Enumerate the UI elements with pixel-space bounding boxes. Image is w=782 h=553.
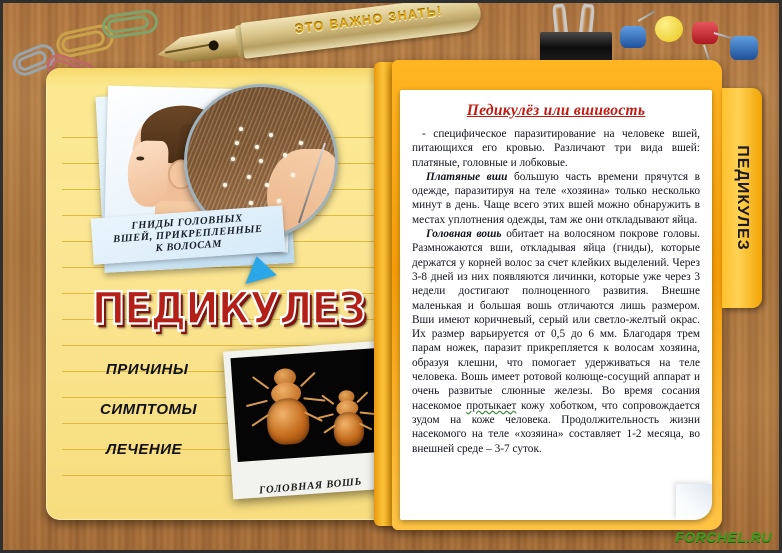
- photo-head-louse: ГОЛОВНАЯ ВОШЬ: [223, 341, 393, 500]
- article-body: - специфическое паразитирование на челов…: [412, 127, 700, 456]
- page-curl: [676, 484, 712, 520]
- side-tab-pedikulez[interactable]: ПЕДИКУЛЕЗ: [722, 88, 762, 308]
- photo-nits-on-hair: ГНИДЫ ГОЛОВНЫХ ВШЕЙ, ПРИКРЕПЛЕННЫЕ К ВОЛ…: [100, 88, 330, 273]
- right-page: Педикулёз или вшивость - специфическое п…: [392, 60, 722, 530]
- article-paragraph: Головная вошь обитает на волосяном покро…: [412, 227, 700, 456]
- menu-item-lechenie[interactable]: ЛЕЧЕНИЕ: [106, 441, 182, 458]
- side-tab-label: ПЕДИКУЛЕЗ: [733, 145, 751, 251]
- louse-photo-frame: [231, 348, 384, 462]
- page-title: ПЕДИКУЛЕЗ: [86, 283, 371, 335]
- menu-item-simptomy[interactable]: СИМПТОМЫ: [100, 401, 197, 418]
- article-paragraph: Платяные вши большую часть времени прячу…: [412, 170, 700, 227]
- louse-large: [255, 367, 318, 447]
- watermark: FORCHEL.RU: [675, 529, 772, 545]
- menu-item-prichiny[interactable]: ПРИЧИНЫ: [106, 361, 188, 378]
- poster-canvas: ЭТО ВАЖНО ЗНАТЬ! ПЕДИКУЛЕЗ ПРИЧИНЫ СИМПТ…: [0, 0, 782, 553]
- article-paragraph: - специфическое паразитирование на челов…: [412, 127, 700, 170]
- article-card: Педикулёз или вшивость - специфическое п…: [400, 90, 712, 520]
- louse-small: [325, 389, 371, 448]
- notepad-top-edge: [46, 68, 396, 86]
- article-title: Педикулёз или вшивость: [412, 102, 700, 120]
- binder-clip-icon: [540, 6, 612, 68]
